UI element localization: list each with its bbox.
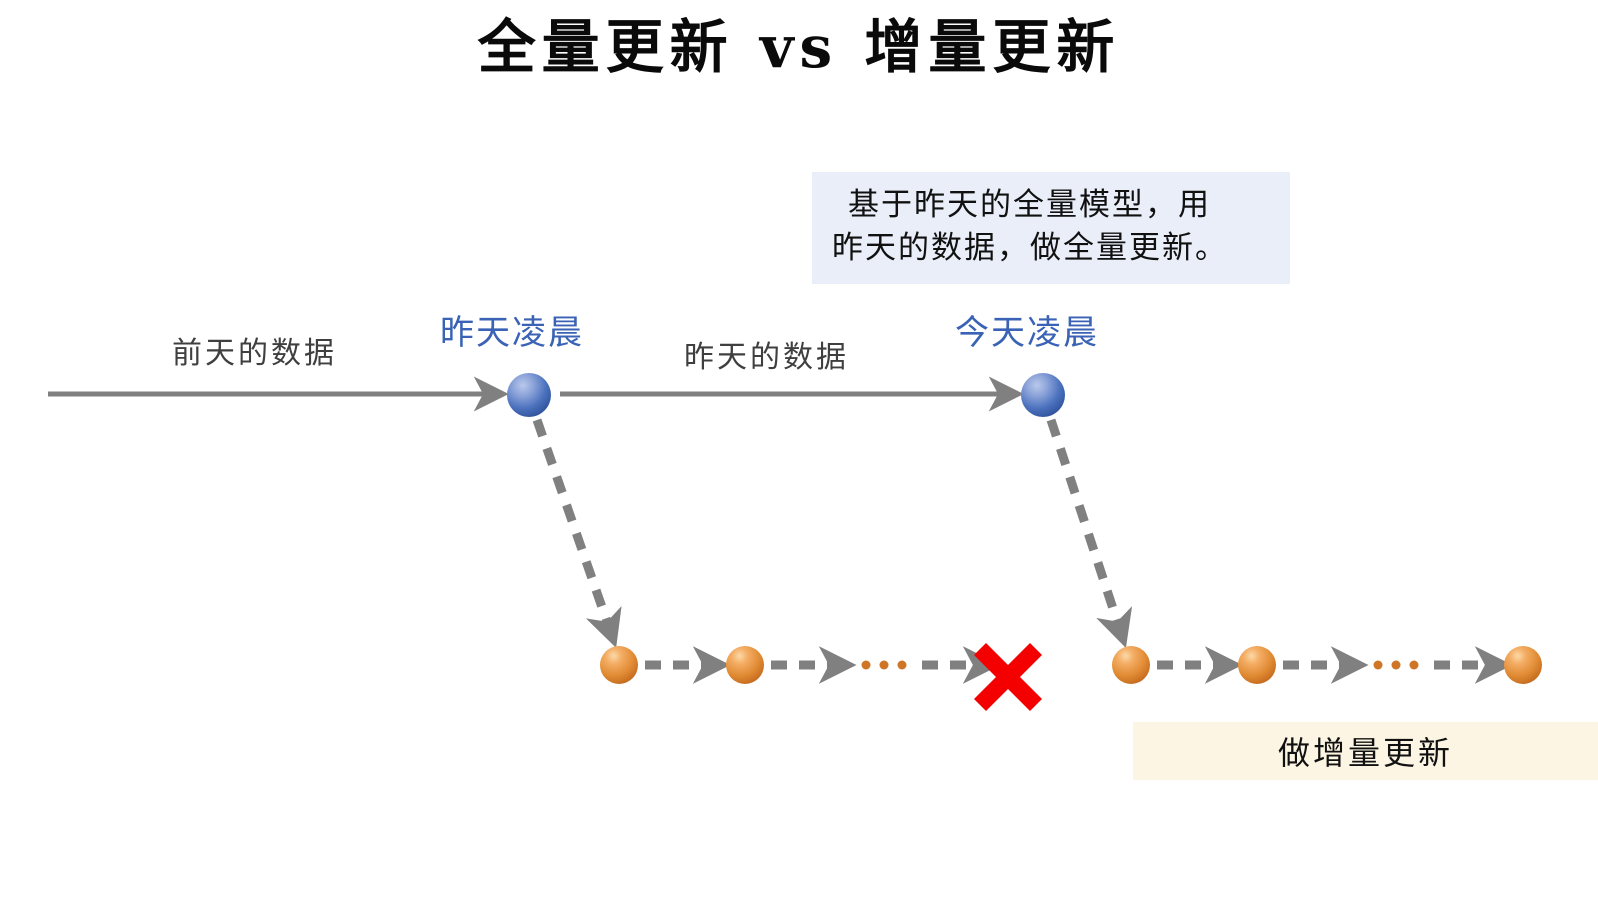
timeline-node-today-label: 今天凌晨 <box>955 316 1099 350</box>
callout-full-refresh: 基于昨天的全量模型，用 昨天的数据，做全量更新。 <box>812 172 1290 284</box>
timeline-node-yesterday-icon <box>507 373 551 417</box>
callout-full-refresh-line-2: 昨天的数据，做全量更新。 <box>832 227 1270 270</box>
diagram-canvas: 全量更新 vs 增量更新 基于昨天的全量模型，用 昨天的数据，做全量更新。 前天… <box>0 0 1598 900</box>
incremental-node-icon <box>1504 646 1542 684</box>
callout-incremental: 做增量更新 <box>1133 722 1598 780</box>
callout-incremental-label: 做增量更新 <box>1278 728 1453 774</box>
timeline-segment-1-label: 前天的数据 <box>172 339 337 369</box>
timeline-node-yesterday-label: 昨天凌晨 <box>440 316 584 350</box>
page-title: 全量更新 vs 增量更新 <box>0 18 1598 76</box>
incremental-chain-1 <box>600 643 1042 711</box>
incremental-node-icon <box>1238 646 1276 684</box>
branch-connector-today <box>1051 420 1122 636</box>
chain-ellipsis-icon <box>862 661 907 670</box>
chain-ellipsis-icon <box>1374 661 1419 670</box>
incremental-chain-2 <box>1112 646 1542 684</box>
incremental-node-icon <box>600 646 638 684</box>
red-x-icon <box>974 643 1042 711</box>
branch-connector-yesterday <box>537 420 612 636</box>
incremental-node-icon <box>726 646 764 684</box>
callout-full-refresh-line-1: 基于昨天的全量模型，用 <box>832 184 1270 227</box>
timeline-node-today-icon <box>1021 373 1065 417</box>
timeline-segment-2-label: 昨天的数据 <box>684 343 849 373</box>
incremental-node-icon <box>1112 646 1150 684</box>
